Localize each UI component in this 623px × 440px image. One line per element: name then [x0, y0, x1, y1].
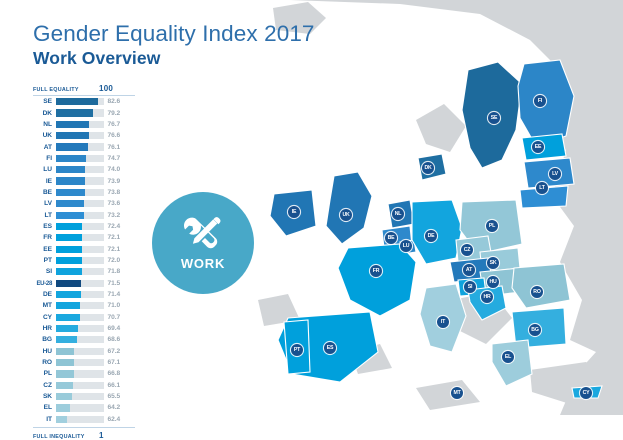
bar-row: SI71.8	[33, 266, 135, 277]
bar-row: LV73.6	[33, 198, 135, 209]
bar-row: AT76.1	[33, 141, 135, 152]
bar-value: 74.0	[104, 166, 121, 173]
bar-country-code: SK	[33, 393, 56, 400]
bar-row: UK76.6	[33, 130, 135, 141]
bar-fill	[56, 189, 85, 196]
bar-fill	[56, 291, 81, 298]
work-label: WORK	[181, 256, 225, 271]
bar-track	[56, 212, 104, 219]
bar-row: CY70.7	[33, 312, 135, 323]
bar-track	[56, 246, 104, 253]
map-badge-PL: PL	[486, 220, 498, 232]
map-badge-AT: AT	[463, 264, 475, 276]
map-badge-HU: HU	[487, 276, 499, 288]
bar-value: 76.6	[104, 132, 121, 139]
map-badge-LV: LV	[549, 168, 561, 180]
bar-country-code: PL	[33, 370, 56, 377]
bar-track	[56, 234, 104, 241]
bar-country-code: SI	[33, 268, 56, 275]
bar-value: 71.5	[104, 280, 121, 287]
map-badge-FR: FR	[370, 265, 382, 277]
bar-fill	[56, 302, 81, 309]
map-badge-SK: SK	[487, 257, 499, 269]
bar-track	[56, 336, 104, 343]
bar-fill	[56, 121, 90, 128]
bar-value: 71.4	[104, 291, 121, 298]
bar-fill	[56, 268, 82, 275]
bar-fill	[56, 382, 73, 389]
bar-track	[56, 223, 104, 230]
bar-list: SE82.6DK79.2NL76.7UK76.6AT76.1FI74.7LU74…	[33, 96, 135, 425]
bar-track	[56, 109, 104, 116]
bar-row: HR69.4	[33, 323, 135, 334]
map-badge-EL: EL	[502, 351, 514, 363]
bar-country-code: LT	[33, 212, 56, 219]
bar-value: 82.6	[104, 98, 121, 105]
bar-fill	[56, 200, 85, 207]
bar-country-code: FR	[33, 234, 56, 241]
bar-fill	[56, 246, 82, 253]
bar-fill	[56, 155, 87, 162]
bar-value: 71.0	[104, 302, 121, 309]
bar-track	[56, 200, 104, 207]
bar-country-code: NL	[33, 121, 56, 128]
bar-track	[56, 416, 104, 423]
bar-country-code: MT	[33, 302, 56, 309]
bar-country-code: BE	[33, 189, 56, 196]
bar-track	[56, 348, 104, 355]
map-badge-CY: CY	[580, 387, 592, 399]
full-inequality-label: FULL INEQUALITY	[33, 434, 99, 440]
map-badge-ES: ES	[324, 342, 336, 354]
bar-value: 68.6	[104, 336, 121, 343]
bar-row: BG68.6	[33, 334, 135, 345]
map-badge-BE: BE	[385, 232, 397, 244]
bar-row: SK65.5	[33, 391, 135, 402]
full-equality-label: FULL EQUALITY	[33, 87, 99, 93]
bar-fill	[56, 370, 74, 377]
bar-value: 71.8	[104, 268, 121, 275]
bar-fill	[56, 177, 85, 184]
bar-row: HU67.2	[33, 346, 135, 357]
bar-row: DE71.4	[33, 289, 135, 300]
scale-bottom: FULL INEQUALITY 1	[33, 427, 135, 440]
bar-value: 72.4	[104, 223, 121, 230]
bar-row: FI74.7	[33, 153, 135, 164]
bar-country-code: EL	[33, 404, 56, 411]
bar-value: 73.6	[104, 200, 121, 207]
bar-track	[56, 189, 104, 196]
bar-country-code: LU	[33, 166, 56, 173]
map-badge-DE: DE	[425, 230, 437, 242]
bar-country-code: EE	[33, 246, 56, 253]
map-badge-IT: IT	[437, 316, 449, 328]
bar-country-code: AT	[33, 144, 56, 151]
country-UK	[326, 172, 372, 244]
bar-value: 74.7	[104, 155, 121, 162]
bar-row: IT62.4	[33, 414, 135, 425]
country-FR	[338, 244, 416, 316]
bar-row: BE73.8	[33, 187, 135, 198]
bar-country-code: HU	[33, 348, 56, 355]
map-badge-MT: MT	[451, 387, 463, 399]
work-domain-badge: WORK	[152, 192, 254, 294]
bar-fill	[56, 280, 82, 287]
map-badge-CZ: CZ	[461, 244, 473, 256]
bar-track	[56, 98, 104, 105]
map-badge-LT: LT	[536, 182, 548, 194]
bar-value: 69.4	[104, 325, 121, 332]
bar-value: 72.1	[104, 246, 121, 253]
title-block: Gender Equality Index 2017 Work Overview	[33, 22, 315, 68]
bar-country-code: IE	[33, 178, 56, 185]
bar-row: SE82.6	[33, 96, 135, 107]
bar-track	[56, 166, 104, 173]
bar-row: DK79.2	[33, 107, 135, 118]
bar-fill	[56, 212, 84, 219]
bar-track	[56, 268, 104, 275]
bar-track	[56, 132, 104, 139]
scale-top: FULL EQUALITY 100	[33, 84, 135, 96]
bar-country-code: DE	[33, 291, 56, 298]
bar-row: EU-2871.5	[33, 278, 135, 289]
bar-track	[56, 325, 104, 332]
bar-fill	[56, 416, 67, 423]
map-badge-LU: LU	[400, 240, 412, 252]
page-title: Gender Equality Index 2017	[33, 22, 315, 46]
map-badge-SE: SE	[488, 112, 500, 124]
bar-country-code: SE	[33, 98, 56, 105]
bar-track	[56, 155, 104, 162]
bar-row: EL64.2	[33, 402, 135, 413]
country-EL	[492, 340, 532, 386]
bar-value: 79.2	[104, 110, 121, 117]
bar-fill	[56, 325, 78, 332]
bar-fill	[56, 359, 75, 366]
bar-value: 72.1	[104, 234, 121, 241]
full-inequality-value: 1	[99, 431, 104, 440]
bar-track	[56, 314, 104, 321]
bar-country-code: CZ	[33, 382, 56, 389]
bar-country-code: EU-28	[33, 280, 56, 287]
bar-country-code: RO	[33, 359, 56, 366]
bar-country-code: ES	[33, 223, 56, 230]
bar-track	[56, 302, 104, 309]
bar-value: 62.4	[104, 416, 121, 423]
map-badge-IE: IE	[288, 206, 300, 218]
map-badge-DK: DK	[422, 162, 434, 174]
bar-fill	[56, 257, 82, 264]
bar-track	[56, 359, 104, 366]
map-badge-RO: RO	[531, 286, 543, 298]
bar-value: 76.7	[104, 121, 121, 128]
page-subtitle: Work Overview	[33, 48, 315, 69]
bar-row: IE73.9	[33, 175, 135, 186]
wrench-pencil-icon	[180, 215, 226, 255]
bar-country-code: LV	[33, 200, 56, 207]
bar-fill	[56, 348, 75, 355]
map-badge-UK: UK	[340, 209, 352, 221]
bar-track	[56, 177, 104, 184]
bar-country-code: IT	[33, 416, 56, 423]
country-DE	[412, 200, 462, 264]
bar-country-code: CY	[33, 314, 56, 321]
bar-value: 67.2	[104, 348, 121, 355]
full-equality-value: 100	[99, 84, 113, 93]
bar-value: 73.8	[104, 189, 121, 196]
bar-country-code: DK	[33, 110, 56, 117]
bar-fill	[56, 223, 83, 230]
bar-value: 76.1	[104, 144, 121, 151]
bar-row: PT72.0	[33, 255, 135, 266]
bar-track	[56, 143, 104, 150]
bar-country-code: UK	[33, 132, 56, 139]
bar-fill	[56, 98, 99, 105]
bar-fill	[56, 234, 82, 241]
bar-track	[56, 257, 104, 264]
bar-country-code: PT	[33, 257, 56, 264]
map-badge-PT: PT	[291, 344, 303, 356]
bar-row: MT71.0	[33, 300, 135, 311]
bar-track	[56, 280, 104, 287]
bar-track	[56, 393, 104, 400]
bar-row: LU74.0	[33, 164, 135, 175]
bar-track	[56, 291, 104, 298]
bar-value: 73.2	[104, 212, 121, 219]
bar-value: 70.7	[104, 314, 121, 321]
bar-value: 66.1	[104, 382, 121, 389]
bar-fill	[56, 393, 72, 400]
bar-row: PL66.8	[33, 368, 135, 379]
bar-row: RO67.1	[33, 357, 135, 368]
bar-fill	[56, 404, 70, 411]
country-EE	[522, 134, 566, 160]
bar-value: 67.1	[104, 359, 121, 366]
bar-fill	[56, 109, 93, 116]
bar-track	[56, 382, 104, 389]
bar-value: 73.9	[104, 178, 121, 185]
bar-row: ES72.4	[33, 221, 135, 232]
bar-value: 65.5	[104, 393, 121, 400]
country-RO	[512, 264, 570, 308]
map-badge-SI: SI	[464, 281, 476, 293]
map-badge-BG: BG	[529, 324, 541, 336]
bar-row: LT73.2	[33, 209, 135, 220]
bar-value: 72.0	[104, 257, 121, 264]
map-badge-FI: FI	[534, 95, 546, 107]
map-badge-HR: HR	[481, 291, 493, 303]
bar-fill	[56, 132, 89, 139]
bar-row: FR72.1	[33, 232, 135, 243]
bar-fill	[56, 314, 80, 321]
country-ranking-chart: FULL EQUALITY 100 SE82.6DK79.2NL76.7UK76…	[33, 84, 135, 440]
bar-country-code: FI	[33, 155, 56, 162]
bar-track	[56, 370, 104, 377]
bar-fill	[56, 166, 85, 173]
bar-track	[56, 121, 104, 128]
bar-row: CZ66.1	[33, 380, 135, 391]
bar-country-code: HR	[33, 325, 56, 332]
country-FI	[518, 60, 574, 146]
bar-value: 66.8	[104, 370, 121, 377]
bar-row: EE72.1	[33, 243, 135, 254]
bar-row: NL76.7	[33, 119, 135, 130]
bar-track	[56, 404, 104, 411]
map-badge-NL: NL	[392, 208, 404, 220]
bar-fill	[56, 336, 77, 343]
bar-country-code: BG	[33, 336, 56, 343]
bar-fill	[56, 143, 89, 150]
bar-value: 64.2	[104, 404, 121, 411]
map-badge-EE: EE	[532, 141, 544, 153]
